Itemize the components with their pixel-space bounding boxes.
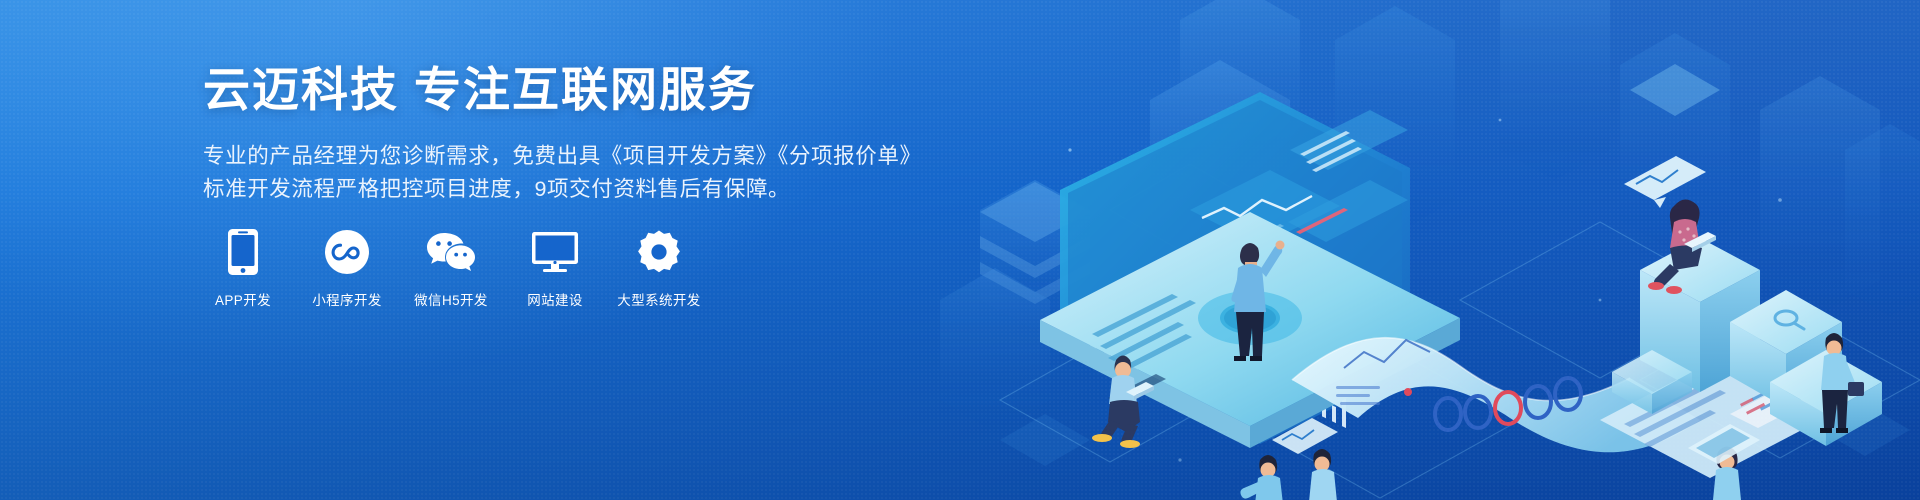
subtitle-line-1: 专业的产品经理为您诊断需求，免费出具《项目开发方案》《分项报价单》	[203, 140, 923, 173]
banner-subtitle: 专业的产品经理为您诊断需求，免费出具《项目开发方案》《分项报价单》 标准开发流程…	[203, 140, 923, 206]
smartphone-icon	[226, 228, 260, 276]
person-bottom-left-man	[1240, 455, 1283, 500]
subtitle-line-2: 标准开发流程严格把控项目进度，9项交付资料售后有保障。	[203, 173, 923, 206]
banner-headline: 云迈科技 专注互联网服务	[203, 62, 923, 117]
wechat-icon	[426, 228, 476, 276]
service-item-mini-program[interactable]: 小程序开发	[307, 228, 387, 309]
service-item-app[interactable]: APP开发	[203, 228, 283, 309]
promo-banner: 云迈科技 专注互联网服务 专业的产品经理为您诊断需求，免费出具《项目开发方案》《…	[0, 0, 1920, 500]
service-label-large-system: 大型系统开发	[617, 289, 700, 309]
service-list: APP开发 小程序开发 微信	[203, 228, 699, 309]
service-label-mini-program: 小程序开发	[312, 289, 382, 309]
service-item-large-system[interactable]: 大型系统开发	[619, 228, 699, 309]
service-label-wechat-h5: 微信H5开发	[414, 289, 488, 309]
service-item-wechat-h5[interactable]: 微信H5开发	[411, 228, 491, 309]
service-item-website[interactable]: 网站建设	[515, 228, 595, 309]
gear-icon	[636, 228, 682, 276]
person-bottom-right-man	[1309, 449, 1337, 500]
mini-program-icon	[325, 228, 369, 276]
service-label-app: APP开发	[215, 289, 271, 309]
isometric-tech-illustration	[940, 0, 1920, 500]
monitor-icon	[531, 228, 579, 276]
banner-copy: 云迈科技 专注互联网服务 专业的产品经理为您诊断需求，免费出具《项目开发方案》《…	[203, 62, 923, 206]
service-label-website: 网站建设	[527, 289, 583, 309]
